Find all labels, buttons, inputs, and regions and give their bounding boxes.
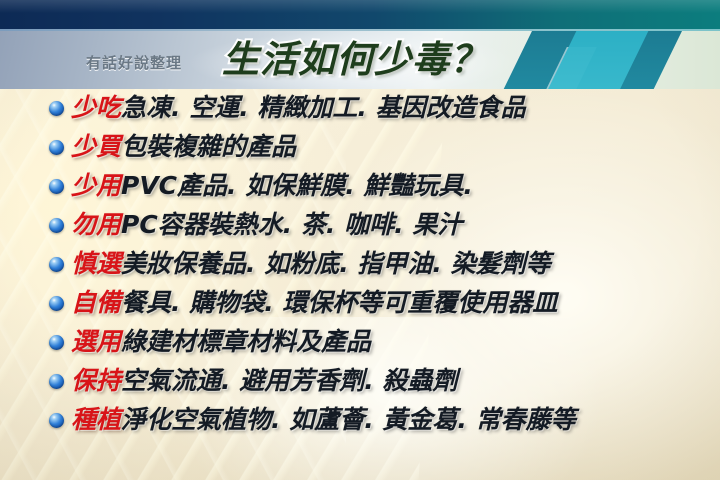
list-item: 保持空氣流通. 避用芳香劑. 殺蟲劑 bbox=[0, 361, 720, 400]
bullet-sphere-icon bbox=[49, 335, 64, 350]
list-item-body: 餐具. 購物袋. 環保杯等可重覆使用器皿 bbox=[121, 288, 557, 317]
list-item: 慎選美妝保養品. 如粉底. 指甲油. 染髮劑等 bbox=[0, 244, 720, 283]
list-item-body: 急凍. 空運. 精緻加工. 基因改造食品 bbox=[121, 93, 526, 122]
list-item-keyword: 慎選 bbox=[71, 249, 121, 278]
list-item-text: 種植淨化空氣植物. 如蘆薈. 黃金葛. 常春藤等 bbox=[71, 407, 576, 432]
list-item-body: 綠建材標章材料及產品 bbox=[121, 327, 371, 356]
bullet-sphere-icon bbox=[49, 179, 64, 194]
top-bar-sheen bbox=[0, 0, 720, 13]
list-item: 勿用PC容器裝熱水. 茶. 咖啡. 果汁 bbox=[0, 205, 720, 244]
bullet-sphere-icon bbox=[49, 296, 64, 311]
list-item-text: 保持空氣流通. 避用芳香劑. 殺蟲劑 bbox=[71, 368, 457, 393]
list-item-body: PVC產品. 如保鮮膜. 鮮豔玩具. bbox=[121, 171, 473, 200]
list-item-body: 美妝保養品. 如粉底. 指甲油. 染髮劑等 bbox=[121, 249, 551, 278]
list-item-keyword: 自備 bbox=[71, 288, 121, 317]
page-title: 生活如何少毒？ bbox=[222, 29, 488, 83]
list-item-text: 少用PVC產品. 如保鮮膜. 鮮豔玩具. bbox=[71, 173, 473, 198]
bullet-sphere-icon bbox=[49, 257, 64, 272]
list-item: 少買包裝複雜的產品 bbox=[0, 127, 720, 166]
list-item: 種植淨化空氣植物. 如蘆薈. 黃金葛. 常春藤等 bbox=[0, 400, 720, 439]
list-item-keyword: 選用 bbox=[71, 327, 121, 356]
list-item-keyword: 勿用 bbox=[71, 210, 121, 239]
list-item: 少吃急凍. 空運. 精緻加工. 基因改造食品 bbox=[0, 88, 720, 127]
list-item-text: 選用綠建材標章材料及產品 bbox=[71, 329, 371, 354]
list-item-body: 包裝複雜的產品 bbox=[121, 132, 296, 161]
list-item-text: 少買包裝複雜的產品 bbox=[71, 134, 296, 159]
list-item-keyword: 種植 bbox=[71, 405, 121, 434]
bullet-sphere-icon bbox=[49, 101, 64, 116]
bullet-sphere-icon bbox=[49, 374, 64, 389]
list-item-text: 勿用PC容器裝熱水. 茶. 咖啡. 果汁 bbox=[71, 212, 462, 237]
list-item: 自備餐具. 購物袋. 環保杯等可重覆使用器皿 bbox=[0, 283, 720, 322]
list-item-body: PC容器裝熱水. 茶. 咖啡. 果汁 bbox=[121, 210, 462, 239]
top-navy-bar bbox=[0, 0, 720, 31]
list-item-text: 慎選美妝保養品. 如粉底. 指甲油. 染髮劑等 bbox=[71, 251, 551, 276]
list-item-body: 淨化空氣植物. 如蘆薈. 黃金葛. 常春藤等 bbox=[121, 405, 576, 434]
bullet-list: 少吃急凍. 空運. 精緻加工. 基因改造食品少買包裝複雜的產品少用PVC產品. … bbox=[0, 88, 720, 439]
list-item-body: 空氣流通. 避用芳香劑. 殺蟲劑 bbox=[121, 366, 457, 395]
list-item-text: 少吃急凍. 空運. 精緻加工. 基因改造食品 bbox=[71, 95, 526, 120]
bullet-sphere-icon bbox=[49, 218, 64, 233]
list-item-keyword: 少用 bbox=[71, 171, 121, 200]
list-item: 選用綠建材標章材料及產品 bbox=[0, 322, 720, 361]
program-source-label: 有話好說整理 bbox=[86, 52, 182, 73]
list-item-text: 自備餐具. 購物袋. 環保杯等可重覆使用器皿 bbox=[71, 290, 557, 315]
bullet-sphere-icon bbox=[49, 140, 64, 155]
list-item-keyword: 保持 bbox=[71, 366, 121, 395]
broadcast-slide: 有話好說整理 生活如何少毒？ 少吃急凍. 空運. 精緻加工. 基因改造食品少買包… bbox=[0, 0, 720, 480]
list-item-keyword: 少買 bbox=[71, 132, 121, 161]
bullet-sphere-icon bbox=[49, 413, 64, 428]
list-item: 少用PVC產品. 如保鮮膜. 鮮豔玩具. bbox=[0, 166, 720, 205]
list-item-keyword: 少吃 bbox=[71, 93, 121, 122]
